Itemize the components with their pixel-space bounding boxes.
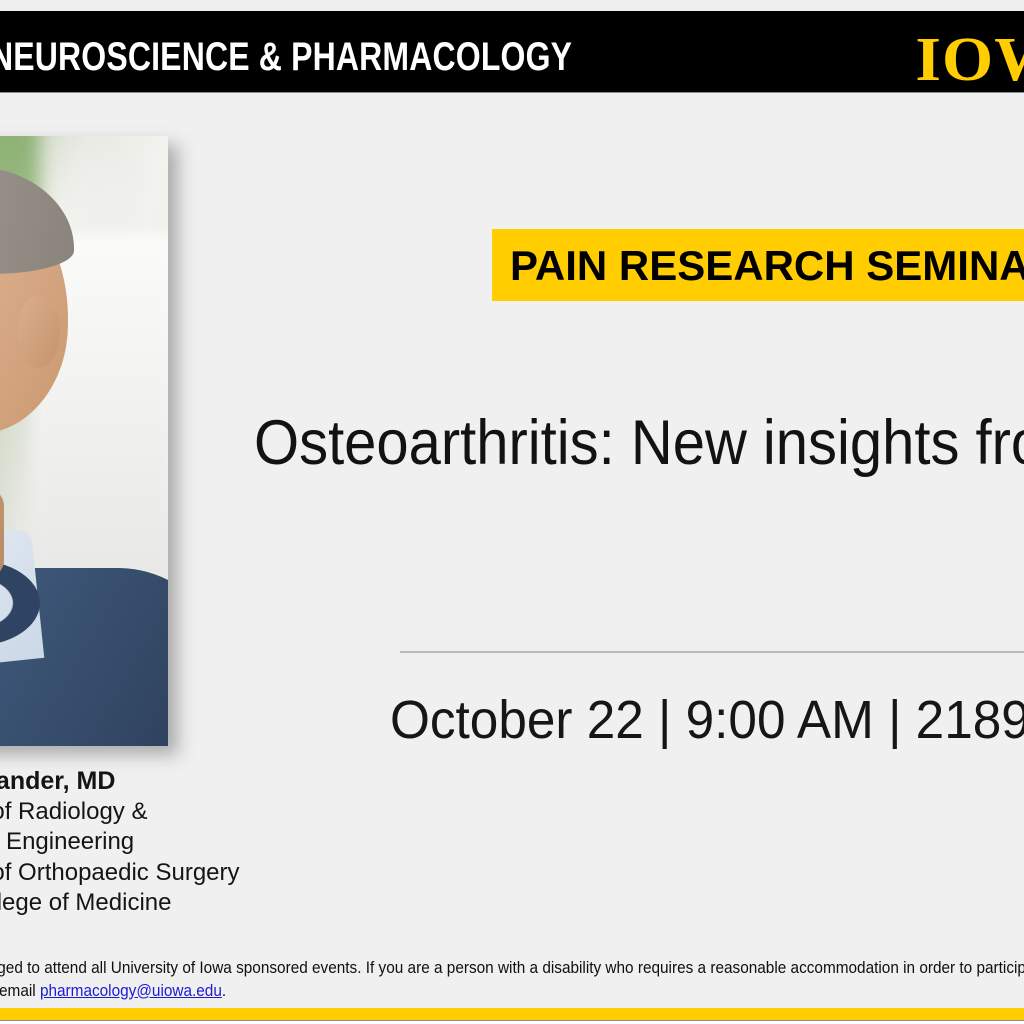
speaker-photo — [0, 136, 168, 746]
photo-background — [0, 136, 168, 746]
accessibility-note-line-2-prefix: Department in advance at 335-7946 or ema… — [0, 982, 40, 1000]
photo-neck — [0, 488, 4, 578]
speaker-credentials: Edward Sander, MD Professor of Radiology… — [0, 766, 342, 919]
accessibility-note-line-1: Individuals with disabilities are encour… — [0, 957, 1024, 980]
contact-email-link[interactable]: pharmacology@uiowa.edu — [40, 982, 222, 1000]
accessibility-note-line-2: Department in advance at 335-7946 or ema… — [0, 980, 1024, 1003]
seminar-banner: PAIN RESEARCH SEMINAR — [492, 229, 1024, 301]
speaker-affiliation-3: Professor of Orthopaedic Surgery — [0, 858, 342, 889]
event-details: October 22 | 9:00 AM | 2189 MERF — [390, 688, 1024, 752]
speaker-affiliation-2: Biomedical Engineering — [0, 827, 342, 858]
seminar-banner-label: PAIN RESEARCH SEMINAR — [510, 243, 1024, 289]
accessibility-note: Individuals with disabilities are encour… — [0, 957, 1024, 1002]
speaker-affiliation-1: Professor of Radiology & — [0, 797, 342, 828]
department-header-bar: NEUROSCIENCE & PHARMACOLOGY IOWA — [0, 11, 1024, 93]
seminar-title: Osteoarthritis: New insights from imagin… — [254, 406, 1024, 480]
top-margin-strip — [0, 0, 1024, 11]
speaker-affiliation-4: Carver College of Medicine — [0, 888, 342, 919]
iowa-logo: IOWA — [915, 29, 1024, 91]
speaker-name: Edward Sander, MD — [0, 766, 342, 797]
bottom-accent-bar — [0, 1008, 1024, 1021]
department-title: NEUROSCIENCE & PHARMACOLOGY — [0, 35, 572, 79]
accessibility-note-line-2-suffix: . — [222, 982, 226, 1000]
seminar-announcement-slide: NEUROSCIENCE & PHARMACOLOGY IOWA PAIN RE… — [0, 0, 1024, 1024]
photo-ear — [18, 296, 60, 368]
title-divider — [400, 651, 1024, 653]
